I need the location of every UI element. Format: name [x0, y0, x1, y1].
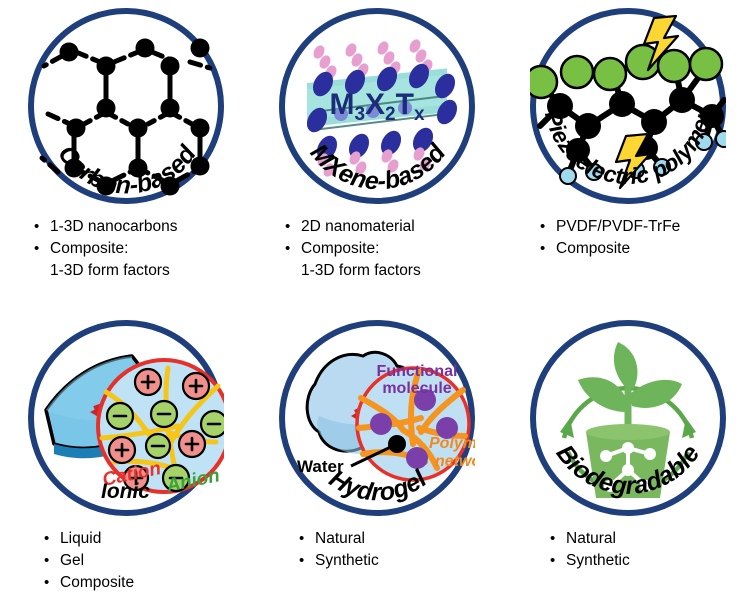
- hexagonal-carbon-lattice-icon: [28, 8, 224, 204]
- mxene-based-circle: M3X2Tx MXene-based: [279, 8, 475, 204]
- list-item: Composite: [540, 238, 753, 260]
- carbon-based-circle: Carbon-based: [28, 8, 224, 204]
- water-label: Water: [297, 457, 344, 476]
- plant-in-cup-recycle-icon: [530, 320, 726, 516]
- list-item: Synthetic: [299, 550, 502, 572]
- list-item: 1-3D nanocarbons: [34, 216, 251, 238]
- panel-mxene-based: M3X2Tx MXene-based 2D nanomaterial Compo…: [251, 8, 502, 282]
- carbon-based-bullets: 1-3D nanocarbons Composite: 1-3D form fa…: [0, 216, 251, 282]
- panel-hydrogel: Water Functionalmolecule Polymer network: [251, 320, 502, 572]
- list-item: Liquid: [44, 528, 251, 550]
- panel-biodegradable: Biodegradable Natural Synthetic: [502, 320, 753, 572]
- biodegradable-bullets: Natural Synthetic: [502, 528, 753, 572]
- mxene-formula: M3X2Tx: [329, 88, 425, 125]
- panel-ionic: Cation Anion Ionic Liquid Gel Composite: [0, 320, 251, 594]
- pvdf-polymer-chain-icon: [530, 8, 726, 204]
- ionic-bullets: Liquid Gel Composite: [0, 528, 251, 594]
- materials-overview-figure: Carbon-based 1-3D nanocarbons Composite:…: [0, 0, 753, 612]
- list-item: Composite:: [285, 238, 502, 260]
- svg-text:network: network: [435, 453, 475, 470]
- list-item: Synthetic: [550, 550, 753, 572]
- mxene-based-bullets: 2D nanomaterial Composite: 1-3D form fac…: [251, 216, 502, 282]
- list-item: Natural: [550, 528, 753, 550]
- biodegradable-circle: Biodegradable: [530, 320, 726, 516]
- piezoelectric-polymer-circle: Piezoelectric polymer: [530, 8, 726, 204]
- list-item: Composite: [44, 572, 251, 594]
- ionic-circle: Cation Anion Ionic: [28, 320, 224, 516]
- polymer-network-label: Polymer: [429, 435, 475, 452]
- mxene-layered-crystal-icon: M3X2Tx: [279, 8, 475, 204]
- hydrogel-bullets: Natural Synthetic: [251, 528, 502, 572]
- list-item: PVDF/PVDF-TrFe: [540, 216, 753, 238]
- panel-carbon-based: Carbon-based 1-3D nanocarbons Composite:…: [0, 8, 251, 282]
- list-item: Gel: [44, 550, 251, 572]
- ionic-label: Ionic: [28, 480, 224, 504]
- list-item: 2D nanomaterial: [285, 216, 502, 238]
- piezoelectric-polymer-bullets: PVDF/PVDF-TrFe Composite: [502, 216, 753, 260]
- list-item: 1-3D form factors: [285, 260, 502, 282]
- list-item: 1-3D form factors: [34, 260, 251, 282]
- functional-molecule-label: Functionalmolecule: [376, 363, 457, 397]
- list-item: Composite:: [34, 238, 251, 260]
- panel-piezoelectric-polymer: Piezoelectric polymer PVDF/PVDF-TrFe Com…: [502, 8, 753, 260]
- hydrogel-network-magnifier-icon: Water Functionalmolecule Polymer network: [279, 320, 475, 516]
- hydrogel-circle: Water Functionalmolecule Polymer network: [279, 320, 475, 516]
- list-item: Natural: [299, 528, 502, 550]
